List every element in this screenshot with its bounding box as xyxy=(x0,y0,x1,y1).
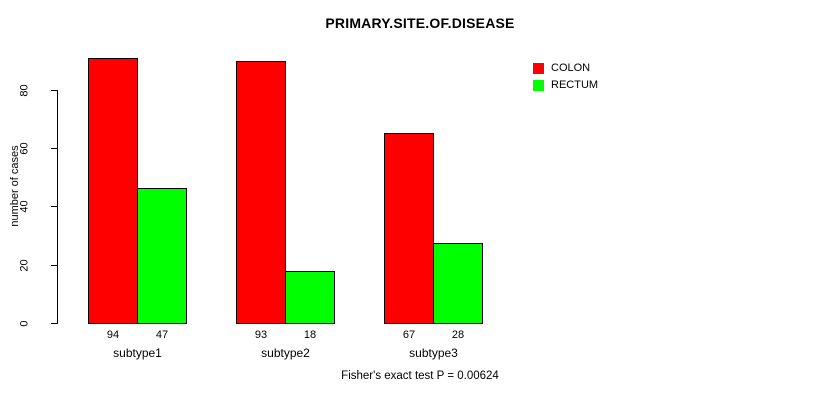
x-axis-group-label-subtype3: subtype3 xyxy=(384,347,483,359)
chart-canvas: PRIMARY.SITE.OF.DISEASE 80 60 40 20 0 nu… xyxy=(0,0,840,400)
bar-subtype1-colon[interactable] xyxy=(88,58,138,324)
bar-value-subtype3-rectum: 28 xyxy=(433,330,483,341)
y-tick-80 xyxy=(51,90,58,91)
x-axis-group-label-subtype1: subtype1 xyxy=(88,347,187,359)
y-tick-40 xyxy=(51,206,58,207)
legend-label-rectum: RECTUM xyxy=(551,80,598,91)
y-tick-label-60: 60 xyxy=(20,129,31,169)
bar-subtype2-colon[interactable] xyxy=(236,61,286,324)
y-tick-60 xyxy=(51,148,58,149)
bar-value-subtype1-rectum: 47 xyxy=(137,330,187,341)
chart-legend: COLON RECTUM xyxy=(533,62,598,96)
bar-subtype1-rectum[interactable] xyxy=(137,188,187,324)
y-tick-label-80: 80 xyxy=(20,71,31,111)
legend-item-colon[interactable]: COLON xyxy=(533,62,598,75)
plot-area: 80 60 40 20 0 number of cases 94 47 93 1… xyxy=(0,0,840,400)
y-tick-label-20: 20 xyxy=(20,246,31,286)
bar-subtype3-rectum[interactable] xyxy=(433,243,483,324)
y-tick-label-0: 0 xyxy=(20,304,31,344)
bar-value-subtype2-rectum: 18 xyxy=(285,330,335,341)
statistical-annotation: Fisher's exact test P = 0.00624 xyxy=(0,370,840,382)
bar-value-subtype1-colon: 94 xyxy=(88,330,138,341)
bar-subtype3-colon[interactable] xyxy=(384,133,434,324)
y-tick-0 xyxy=(51,323,58,324)
y-axis-line xyxy=(57,90,58,324)
legend-swatch-rectum-icon xyxy=(533,80,544,91)
bar-value-subtype2-colon: 93 xyxy=(236,330,286,341)
y-tick-label-40: 40 xyxy=(20,187,31,227)
legend-swatch-colon-icon xyxy=(533,63,544,74)
y-axis-label: number of cases xyxy=(9,126,21,246)
legend-item-rectum[interactable]: RECTUM xyxy=(533,79,598,92)
y-tick-20 xyxy=(51,265,58,266)
bar-subtype2-rectum[interactable] xyxy=(285,271,335,324)
x-axis-group-label-subtype2: subtype2 xyxy=(236,347,335,359)
bar-value-subtype3-colon: 67 xyxy=(384,330,434,341)
legend-label-colon: COLON xyxy=(551,63,590,74)
